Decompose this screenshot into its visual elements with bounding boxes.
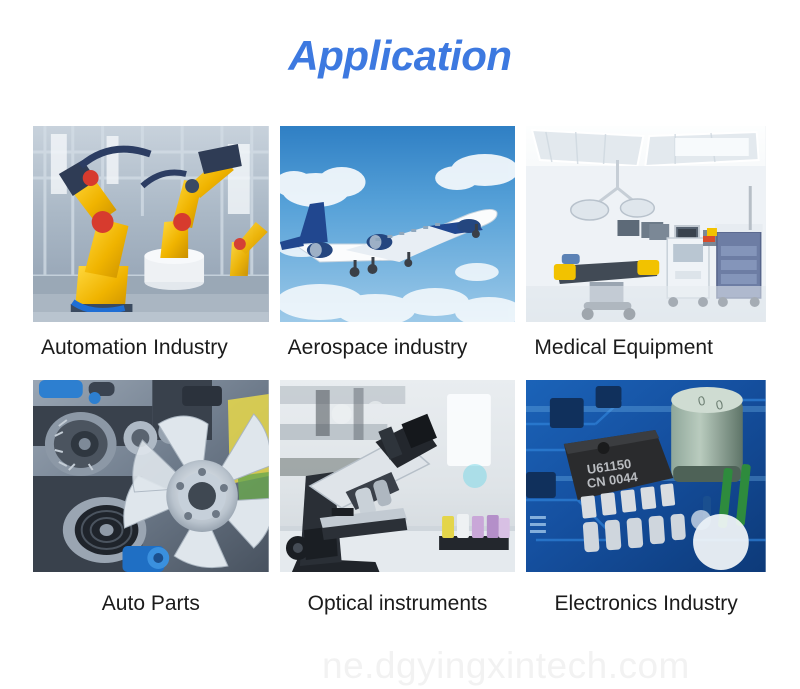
circuit-board-illustration: 0 0 U61150 CN 0044 xyxy=(526,380,766,572)
automation-industry-photo[interactable] xyxy=(33,126,269,322)
application-card-caption: Aerospace industry xyxy=(280,334,516,362)
application-card-caption: Optical instruments xyxy=(280,590,516,618)
application-card-aerospace-industry[interactable]: Aerospace industry xyxy=(280,126,516,362)
airplane-illustration xyxy=(280,126,516,322)
application-card-medical-equipment[interactable]: Medical Equipment xyxy=(526,126,766,362)
application-card-caption: Electronics Industry xyxy=(526,590,766,618)
page-title: Application xyxy=(0,30,800,82)
application-card-automation-industry[interactable]: Automation Industry xyxy=(33,126,269,362)
application-card-auto-parts[interactable]: Auto Parts xyxy=(33,380,269,618)
operating-room-illustration xyxy=(526,126,766,322)
application-card-caption: Automation Industry xyxy=(33,334,269,362)
application-grid: Automation Industry xyxy=(33,126,766,618)
electronics-industry-photo[interactable]: 0 0 U61150 CN 0044 xyxy=(526,380,766,572)
auto-parts-photo[interactable] xyxy=(33,380,269,572)
application-card-electronics-industry[interactable]: 0 0 U61150 CN 0044 xyxy=(526,380,766,618)
robot-arm-illustration xyxy=(33,126,269,322)
medical-equipment-photo[interactable] xyxy=(526,126,766,322)
optical-instruments-photo[interactable] xyxy=(280,380,516,572)
application-card-optical-instruments[interactable]: Optical instruments xyxy=(280,380,516,618)
engine-fan-illustration xyxy=(33,380,269,572)
gallery-row: Auto Parts xyxy=(33,380,766,618)
site-watermark: ne.dgyingxintech.com xyxy=(322,644,690,688)
gallery-row: Automation Industry xyxy=(33,126,766,362)
application-gallery-page: Application xyxy=(0,0,800,689)
application-card-caption: Auto Parts xyxy=(33,590,269,618)
microscope-illustration xyxy=(280,380,516,572)
aerospace-industry-photo[interactable] xyxy=(280,126,516,322)
application-card-caption: Medical Equipment xyxy=(526,334,766,362)
